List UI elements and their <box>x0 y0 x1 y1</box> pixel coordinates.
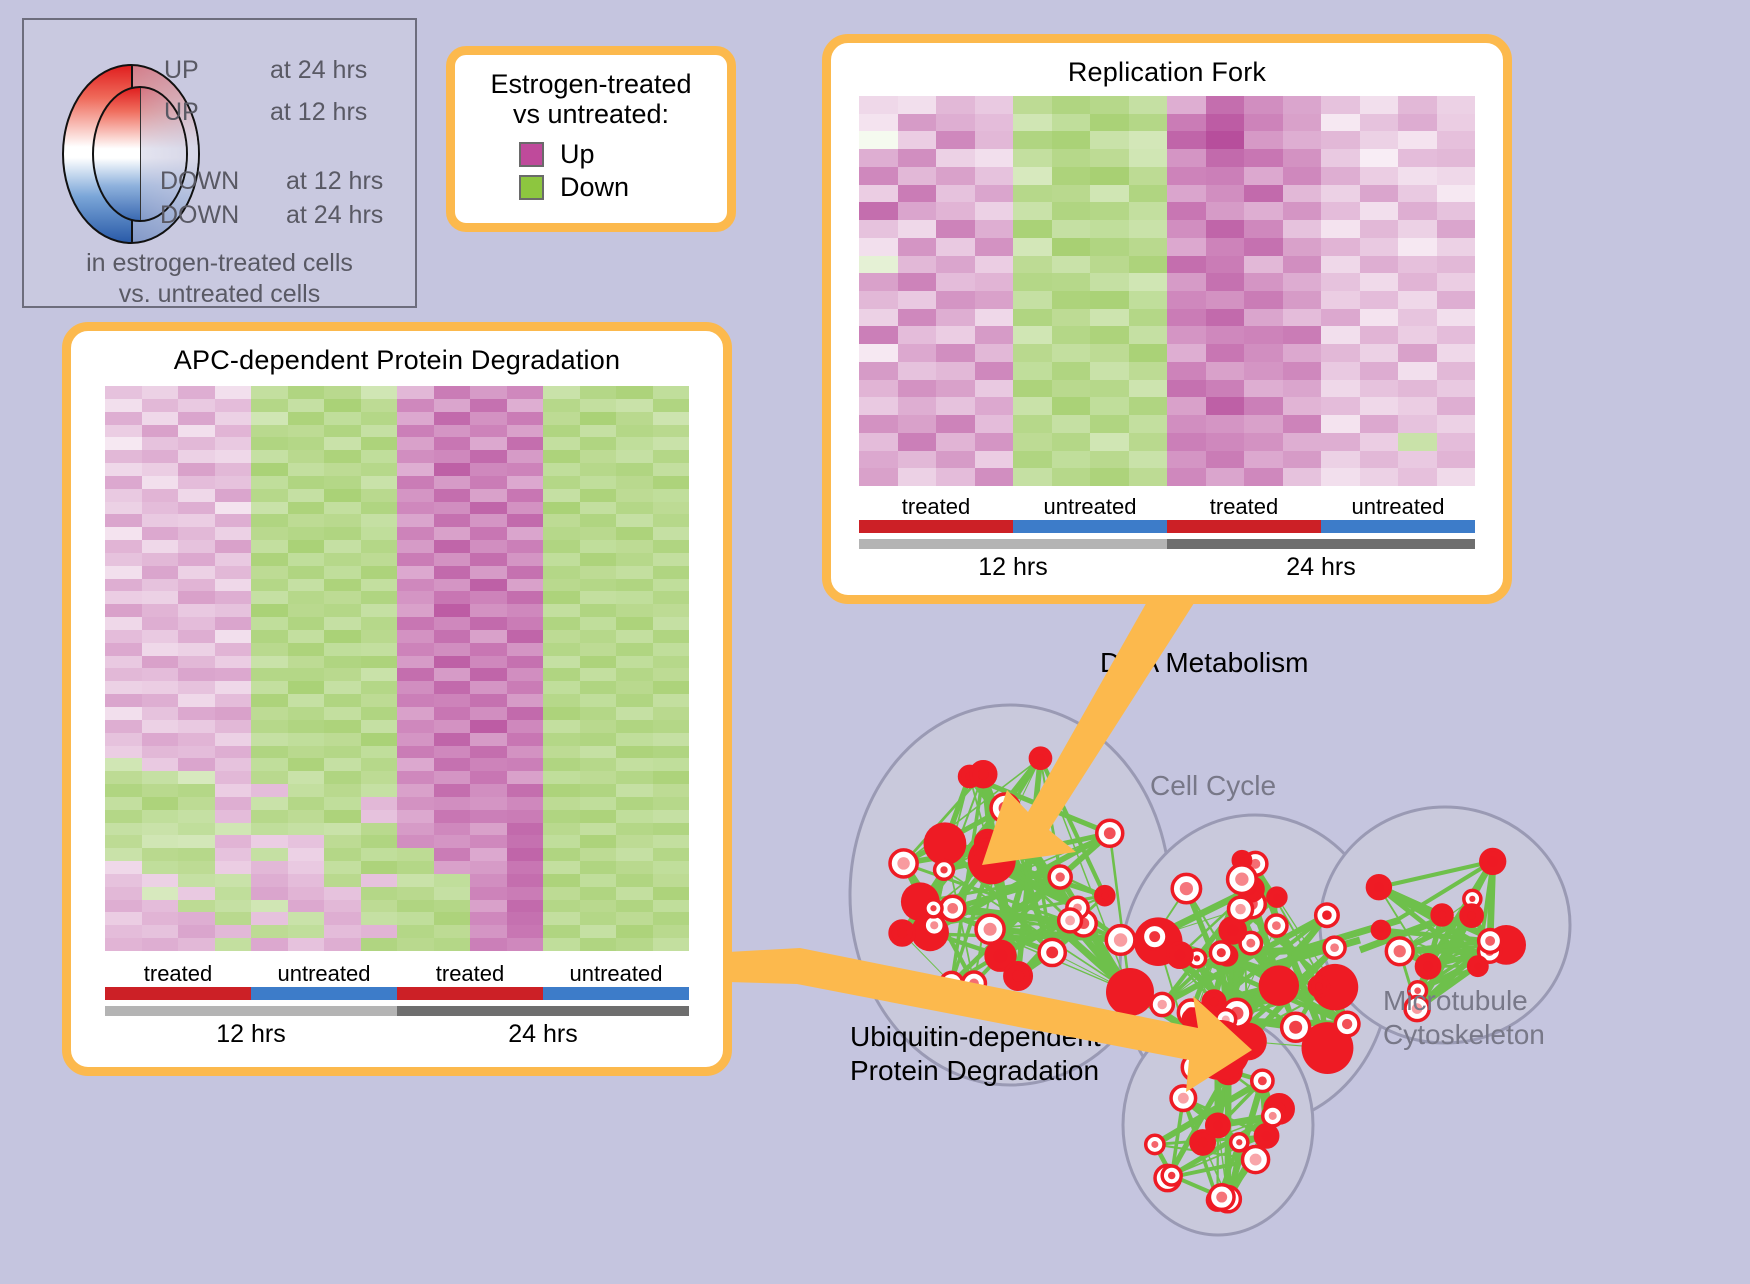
heatmap-cell <box>251 591 288 604</box>
network-node[interactable] <box>1162 1166 1181 1185</box>
heatmap-cell <box>178 900 215 913</box>
network-node[interactable] <box>940 972 962 994</box>
network-svg <box>800 620 1750 1279</box>
heatmap-cell <box>434 784 471 797</box>
network-node[interactable] <box>1025 832 1042 849</box>
heatmap-cell <box>1360 149 1399 167</box>
network-node-core <box>1031 838 1037 844</box>
network-node[interactable] <box>1386 938 1413 965</box>
heatmap-cell <box>361 643 398 656</box>
network-node[interactable] <box>1263 1106 1283 1126</box>
heatmap-cell <box>1129 468 1168 486</box>
heatmap-cell <box>1283 131 1322 149</box>
network-node[interactable] <box>962 972 985 995</box>
heatmap-cell <box>434 746 471 759</box>
heatmap-cell <box>1206 114 1245 132</box>
heatmap-cell <box>1437 344 1476 362</box>
time-label-1: 24 hrs <box>397 1016 689 1049</box>
heatmap-cell <box>324 797 361 810</box>
network-node[interactable] <box>1243 1147 1269 1173</box>
heatmap-cell <box>178 630 215 643</box>
heatmap-cell <box>1283 380 1322 398</box>
heatmap-cell <box>1283 362 1322 380</box>
heatmap-cell <box>616 835 653 848</box>
heatmap-cell <box>288 823 325 836</box>
heatmap-cell <box>105 399 142 412</box>
network-node-core <box>1149 931 1160 942</box>
heatmap-cell <box>324 912 361 925</box>
network-node[interactable] <box>1228 865 1257 894</box>
heatmap-cell <box>470 758 507 771</box>
heatmap-cell <box>178 386 215 399</box>
heatmap-cell <box>859 468 898 486</box>
network-node[interactable] <box>1172 874 1200 902</box>
legend-at-24-top: at 24 hrs <box>270 56 367 85</box>
heatmap-cell <box>1206 362 1245 380</box>
network-node[interactable] <box>1309 977 1328 996</box>
network-node-core <box>1235 873 1248 886</box>
heatmap-cell <box>1360 397 1399 415</box>
legend-heading: Estrogen-treated vs untreated: <box>455 55 727 129</box>
network-node-core <box>1438 911 1446 919</box>
network-node[interactable] <box>1049 866 1071 888</box>
heatmap-cell <box>1206 238 1245 256</box>
heatmap-cell <box>361 733 398 746</box>
heatmap-cell <box>1052 380 1091 398</box>
heatmap-cell <box>653 925 690 938</box>
legend-swatch-down <box>519 175 544 200</box>
heatmap-cell <box>434 656 471 669</box>
network-node[interactable] <box>1210 942 1232 964</box>
heatmap-cell <box>251 604 288 617</box>
heatmap-cell <box>936 397 975 415</box>
heatmap-cell <box>1013 309 1052 327</box>
heatmap-cell <box>653 553 690 566</box>
heatmap-cell <box>324 835 361 848</box>
heatmap-cell <box>1090 451 1129 469</box>
heatmap-cell <box>975 326 1014 344</box>
heatmap-cell <box>215 835 252 848</box>
heatmap-cell <box>105 540 142 553</box>
network-node[interactable] <box>1142 924 1167 949</box>
heatmap-cell <box>653 566 690 579</box>
heatmap-cell <box>507 810 544 823</box>
heatmap-cell <box>653 861 690 874</box>
heatmap-cell <box>142 476 179 489</box>
heatmap-cell <box>142 579 179 592</box>
heatmap-cell <box>936 96 975 114</box>
network-node[interactable] <box>1461 905 1482 926</box>
heatmap-cell <box>105 668 142 681</box>
heatmap-cell <box>1129 344 1168 362</box>
network-node[interactable] <box>1335 1012 1359 1036</box>
network-node[interactable] <box>1106 968 1154 1016</box>
heatmap-cell <box>361 617 398 630</box>
heatmap-cell <box>470 848 507 861</box>
heatmap-cell <box>580 591 617 604</box>
heatmap-cell <box>616 887 653 900</box>
replication-fork-condition-labels: treateduntreatedtreateduntreated <box>859 494 1475 520</box>
heatmap-cell <box>142 733 179 746</box>
heatmap-cell <box>288 681 325 694</box>
network-node[interactable] <box>1209 1185 1234 1210</box>
heatmap-cell <box>397 514 434 527</box>
heatmap-cell <box>251 771 288 784</box>
heatmap-cell <box>653 437 690 450</box>
heatmap-cell <box>1321 220 1360 238</box>
heatmap-cell <box>580 835 617 848</box>
heatmap-cell <box>616 425 653 438</box>
network-node[interactable] <box>1151 993 1173 1015</box>
network-node[interactable] <box>1168 943 1192 967</box>
heatmap-cell <box>251 630 288 643</box>
heatmap-cell <box>105 617 142 630</box>
network-node[interactable] <box>1059 909 1082 932</box>
heatmap-cell <box>251 720 288 733</box>
network-node[interactable] <box>1282 1013 1310 1041</box>
heatmap-cell <box>543 489 580 502</box>
heatmap-cell <box>434 566 471 579</box>
heatmap-cell <box>1206 344 1245 362</box>
heatmap-cell <box>1321 415 1360 433</box>
heatmap-cell <box>975 220 1014 238</box>
network-node-core <box>1467 911 1476 920</box>
heatmap-cell <box>470 540 507 553</box>
heatmap-cell <box>324 591 361 604</box>
network-node[interactable] <box>1416 955 1439 978</box>
heatmap-cell <box>361 784 398 797</box>
heatmap-cell <box>1013 131 1052 149</box>
heatmap-cell <box>859 256 898 274</box>
network-node-core <box>1485 936 1495 946</box>
network-node[interactable] <box>991 794 1019 822</box>
network-node[interactable] <box>941 896 965 920</box>
heatmap-cell <box>470 733 507 746</box>
network-node[interactable] <box>1146 1135 1164 1153</box>
heatmap-cell <box>859 397 898 415</box>
heatmap-cell <box>653 733 690 746</box>
heatmap-cell <box>361 746 398 759</box>
heatmap-cell <box>1013 362 1052 380</box>
heatmap-cell <box>507 925 544 938</box>
network-node[interactable] <box>1432 905 1452 925</box>
network-node[interactable] <box>1479 929 1502 952</box>
heatmap-cell <box>397 668 434 681</box>
heatmap-cell <box>653 643 690 656</box>
heatmap-cell <box>288 566 325 579</box>
heatmap-cell <box>251 553 288 566</box>
heatmap-cell <box>215 848 252 861</box>
cluster-label-microtubule-cytoskeleton: Microtubule Cytoskeleton <box>1383 984 1545 1052</box>
heatmap-cell <box>434 514 471 527</box>
network-node-core <box>1250 1154 1262 1166</box>
heatmap-cell <box>324 938 361 951</box>
heatmap-cell <box>1437 131 1476 149</box>
heatmap-cell <box>1013 415 1052 433</box>
network-node[interactable] <box>890 921 914 945</box>
heatmap-cell <box>1437 380 1476 398</box>
heatmap-cell <box>580 771 617 784</box>
heatmap-cell <box>859 344 898 362</box>
heatmap-cell <box>1360 380 1399 398</box>
heatmap-cell <box>215 591 252 604</box>
colorwheel-caption-line1: in estrogen-treated cells <box>24 248 415 279</box>
legend-up-24-label: UP <box>164 56 199 85</box>
heatmap-cell <box>1283 468 1322 486</box>
heatmap-cell <box>1013 380 1052 398</box>
heatmap-cell <box>898 309 937 327</box>
heatmap-cell <box>142 861 179 874</box>
heatmap-cell <box>936 149 975 167</box>
heatmap-cell <box>507 720 544 733</box>
network-node-core <box>1101 892 1108 899</box>
heatmap-cell <box>580 412 617 425</box>
heatmap-cell <box>105 861 142 874</box>
heatmap-cell <box>288 579 325 592</box>
network-node[interactable] <box>1252 1070 1273 1091</box>
network-node[interactable] <box>1367 876 1390 899</box>
heatmap-cell <box>324 527 361 540</box>
network-node-core <box>1259 965 1299 1005</box>
heatmap-cell <box>324 604 361 617</box>
heatmap-cell <box>105 579 142 592</box>
heatmap-cell <box>543 656 580 669</box>
network-node[interactable] <box>1096 887 1114 905</box>
heatmap-cell <box>142 514 179 527</box>
heatmap-cell <box>470 553 507 566</box>
heatmap-cell <box>1090 468 1129 486</box>
heatmap-cell <box>1283 397 1322 415</box>
network-node[interactable] <box>1372 921 1389 938</box>
network-node[interactable] <box>971 762 996 787</box>
network-node[interactable] <box>1190 1020 1250 1080</box>
heatmap-cell <box>543 566 580 579</box>
heatmap-cell <box>1167 326 1206 344</box>
heatmap-cell <box>215 566 252 579</box>
heatmap-cell <box>1013 451 1052 469</box>
heatmap-cell <box>397 887 434 900</box>
heatmap-cell <box>543 412 580 425</box>
network-node-core <box>1209 997 1218 1006</box>
network-node-core <box>1474 963 1481 970</box>
heatmap-cell <box>898 468 937 486</box>
heatmap-cell <box>543 810 580 823</box>
condition-label-1: untreated <box>251 961 397 987</box>
heatmap-cell <box>1244 149 1283 167</box>
heatmap-cell <box>288 912 325 925</box>
heatmap-cell <box>1398 291 1437 309</box>
network-node[interactable] <box>925 900 942 917</box>
network-node[interactable] <box>1030 748 1050 768</box>
heatmap-cell <box>361 810 398 823</box>
heatmap-cell <box>898 131 937 149</box>
heatmap-cell <box>361 912 398 925</box>
heatmap-cell <box>470 938 507 951</box>
heatmap-cell <box>434 425 471 438</box>
heatmap-cell <box>288 643 325 656</box>
heatmap-cell <box>859 149 898 167</box>
heatmap-cell <box>178 925 215 938</box>
network-node-core <box>1065 916 1075 926</box>
network-node[interactable] <box>1316 904 1339 927</box>
heatmap-cell <box>1321 202 1360 220</box>
network-node[interactable] <box>1266 915 1287 936</box>
heatmap-cell <box>288 399 325 412</box>
condition-bar-0 <box>105 987 251 1000</box>
heatmap-cell <box>434 450 471 463</box>
heatmap-cell <box>507 823 544 836</box>
heatmap-cell <box>251 668 288 681</box>
heatmap-cell <box>616 566 653 579</box>
heatmap-cell <box>142 591 179 604</box>
heatmap-cell <box>105 553 142 566</box>
heatmap-cell <box>616 848 653 861</box>
network-node-core <box>1258 1076 1267 1085</box>
heatmap-cell <box>936 433 975 451</box>
heatmap-cell <box>580 527 617 540</box>
heatmap-cell <box>936 380 975 398</box>
condition-label-2: treated <box>1167 494 1321 520</box>
heatmap-cell <box>616 668 653 681</box>
heatmap-cell <box>1360 167 1399 185</box>
heatmap-cell <box>470 591 507 604</box>
heatmap-cell <box>616 463 653 476</box>
heatmap-cell <box>178 733 215 746</box>
heatmap-cell <box>1013 149 1052 167</box>
heatmap-cell <box>1398 131 1437 149</box>
heatmap-cell <box>142 758 179 771</box>
heatmap-cell <box>215 489 252 502</box>
network-node[interactable] <box>1191 1131 1214 1154</box>
heatmap-cell <box>1398 326 1437 344</box>
heatmap-cell <box>616 604 653 617</box>
heatmap-cell <box>580 707 617 720</box>
network-node[interactable] <box>1005 963 1031 989</box>
heatmap-cell <box>859 131 898 149</box>
heatmap-cell <box>105 887 142 900</box>
colorwheel-caption-line2: vs. untreated cells <box>24 279 415 310</box>
legend-up-12-label: UP <box>164 98 199 127</box>
heatmap-cell <box>434 707 471 720</box>
heatmap-cell <box>1437 451 1476 469</box>
heatmap-cell <box>616 450 653 463</box>
heatmap-cell <box>859 114 898 132</box>
heatmap-cell <box>397 733 434 746</box>
heatmap-cell <box>178 412 215 425</box>
heatmap-cell <box>1360 291 1399 309</box>
heatmap-cell <box>898 220 937 238</box>
heatmap-cell <box>1437 362 1476 380</box>
heatmap-cell <box>470 630 507 643</box>
heatmap-cell <box>434 810 471 823</box>
heatmap-cell <box>936 362 975 380</box>
heatmap-cell <box>1013 397 1052 415</box>
heatmap-cell <box>1283 114 1322 132</box>
heatmap-cell <box>1398 309 1437 327</box>
heatmap-cell <box>1129 433 1168 451</box>
heatmap-cell <box>251 489 288 502</box>
heatmap-cell <box>434 502 471 515</box>
heatmap-cell <box>470 399 507 412</box>
heatmap-cell <box>936 326 975 344</box>
network-node[interactable] <box>1255 1125 1277 1147</box>
network-node[interactable] <box>1268 888 1286 906</box>
heatmap-cell <box>361 707 398 720</box>
heatmap-cell <box>397 502 434 515</box>
network-node[interactable] <box>1097 820 1123 846</box>
network-node[interactable] <box>1229 897 1253 921</box>
replication-fork-title: Replication Fork <box>831 43 1503 88</box>
network-node[interactable] <box>1039 939 1065 965</box>
apc-time-bars <box>105 1006 689 1016</box>
network-node-core <box>930 921 938 929</box>
heatmap-cell <box>1206 220 1245 238</box>
heatmap-cell <box>142 912 179 925</box>
heatmap-cell <box>1321 468 1360 486</box>
heatmap-cell <box>361 861 398 874</box>
heatmap-cell <box>215 437 252 450</box>
heatmap-cell <box>142 938 179 951</box>
heatmap-cell <box>1283 202 1322 220</box>
heatmap-cell <box>1321 256 1360 274</box>
heatmap-cell <box>1398 397 1437 415</box>
heatmap-cell <box>1090 415 1129 433</box>
heatmap-cell <box>936 291 975 309</box>
heatmap-cell <box>1167 114 1206 132</box>
heatmap-cell <box>105 502 142 515</box>
network-node[interactable] <box>1469 957 1487 975</box>
network-node[interactable] <box>1324 937 1345 958</box>
heatmap-cell <box>543 604 580 617</box>
heatmap-cell <box>434 874 471 887</box>
heatmap-cell <box>142 925 179 938</box>
network-node[interactable] <box>1259 965 1299 1005</box>
heatmap-cell <box>470 502 507 515</box>
heatmap-cell <box>361 938 398 951</box>
network-node[interactable] <box>1106 926 1135 955</box>
heatmap-cell <box>1167 344 1206 362</box>
heatmap-cell <box>936 309 975 327</box>
network-node[interactable] <box>1481 850 1505 874</box>
heatmap-cell <box>507 437 544 450</box>
heatmap-cell <box>616 527 653 540</box>
heatmap-cell <box>361 668 398 681</box>
heatmap-cell <box>616 579 653 592</box>
heatmap-cell <box>178 502 215 515</box>
heatmap-cell <box>1398 220 1437 238</box>
network-node[interactable] <box>890 850 917 877</box>
network-node[interactable] <box>1231 1134 1248 1151</box>
heatmap-cell <box>653 797 690 810</box>
heatmap-cell <box>397 848 434 861</box>
heatmap-cell <box>470 797 507 810</box>
heatmap-cell <box>178 746 215 759</box>
heatmap-cell <box>215 604 252 617</box>
heatmap-cell <box>251 848 288 861</box>
heatmap-cell <box>215 797 252 810</box>
heatmap-cell <box>653 746 690 759</box>
network-node[interactable] <box>975 840 995 860</box>
network-node[interactable] <box>976 915 1004 943</box>
heatmap-cell <box>142 540 179 553</box>
heatmap-cell <box>105 656 142 669</box>
heatmap-cell <box>616 861 653 874</box>
heatmap-cell <box>1360 96 1399 114</box>
network-node[interactable] <box>1171 1086 1196 1111</box>
network-node[interactable] <box>935 860 954 879</box>
heatmap-cell <box>142 502 179 515</box>
network-node-core <box>1235 904 1246 915</box>
